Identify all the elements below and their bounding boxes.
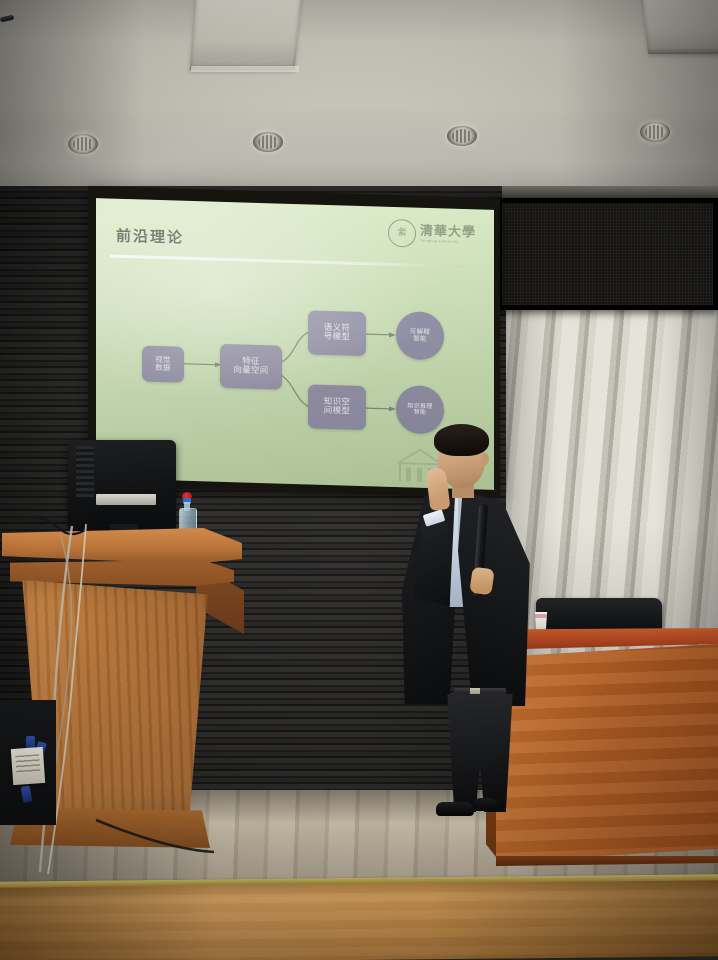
hand-holding-microphone [469, 567, 494, 596]
ear [481, 453, 489, 465]
lecture-hall-photo: 前沿理论 紫 清華大學 Tsinghua University [0, 0, 718, 960]
ceiling-shading [0, 0, 718, 192]
downlight-icon [253, 132, 283, 152]
hair [434, 424, 489, 456]
shoe-left [436, 802, 474, 816]
diagram-node-visual-data: 视觉 数据 [142, 345, 184, 382]
diagram-node-explainable-intelligence: 可解释 智能 [396, 311, 444, 360]
node-label-line: 间模型 [324, 407, 350, 417]
monitor-vent [76, 446, 94, 498]
diagram-node-knowledge-space-model: 知识空 间模型 [308, 384, 366, 430]
apron-shading [0, 880, 718, 960]
led-pixel-grid [502, 203, 713, 305]
curtain-rail [502, 186, 718, 198]
node-label-line: 智能 [407, 409, 432, 416]
downlight-icon [640, 122, 670, 142]
node-label-line: 向量空间 [233, 366, 268, 376]
diagram-node-semantic-symbol-model: 语义符 号模型 [308, 310, 366, 356]
equipment-tag-text-lines [15, 754, 40, 774]
diagram-node-feature-vector-space: 特征 向量空间 [220, 344, 282, 390]
equipment-tag [11, 747, 45, 785]
suit-jacket-right [458, 490, 536, 706]
node-label-line: 号模型 [324, 333, 350, 343]
led-display-panel [497, 198, 718, 310]
node-label-line: 智能 [410, 335, 430, 343]
table-bottom-edge [496, 856, 718, 866]
shoe-right [474, 798, 498, 811]
stage-apron [0, 880, 718, 960]
ceiling [0, 0, 718, 192]
node-label-line: 数据 [155, 364, 171, 373]
downlight-icon [68, 134, 98, 154]
downlight-icon [447, 126, 477, 146]
trousers [446, 694, 514, 812]
monitor-label [96, 494, 156, 505]
presenter [396, 420, 556, 825]
